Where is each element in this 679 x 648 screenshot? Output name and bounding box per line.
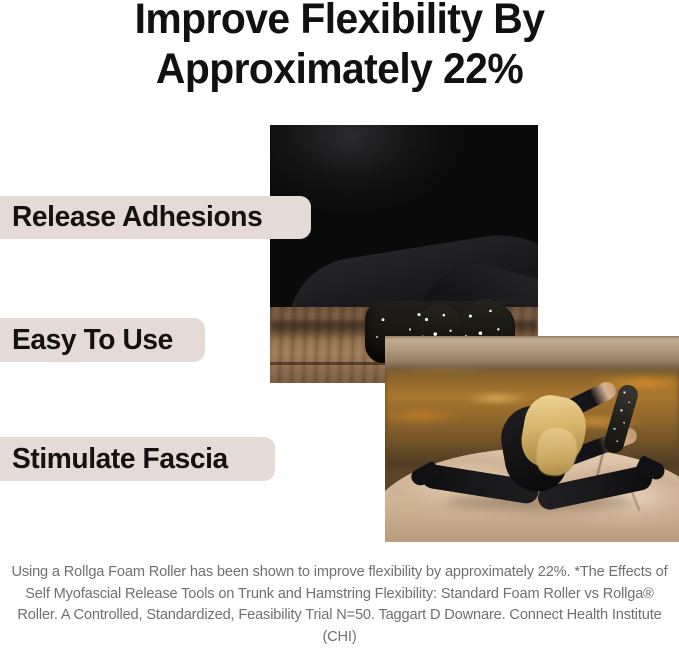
badge-stimulate-fascia-label: Stimulate Fascia [12, 443, 228, 476]
splits-stretch-photo [385, 336, 679, 542]
badge-easy-to-use: Easy To Use [0, 318, 205, 362]
page-title: Improve Flexibility By Approximately 22% [17, 0, 662, 94]
badge-easy-to-use-label: Easy To Use [12, 324, 173, 357]
study-citation: Using a Rollga Foam Roller has been show… [6, 562, 673, 648]
badge-release-adhesions-label: Release Adhesions [12, 201, 262, 234]
badge-release-adhesions: Release Adhesions [0, 196, 311, 239]
headline-line-1: Improve Flexibility By [17, 0, 662, 44]
photo-background-rock-ledge [385, 336, 679, 370]
headline-line-2: Approximately 22% [17, 44, 662, 94]
badge-stimulate-fascia: Stimulate Fascia [0, 437, 275, 481]
